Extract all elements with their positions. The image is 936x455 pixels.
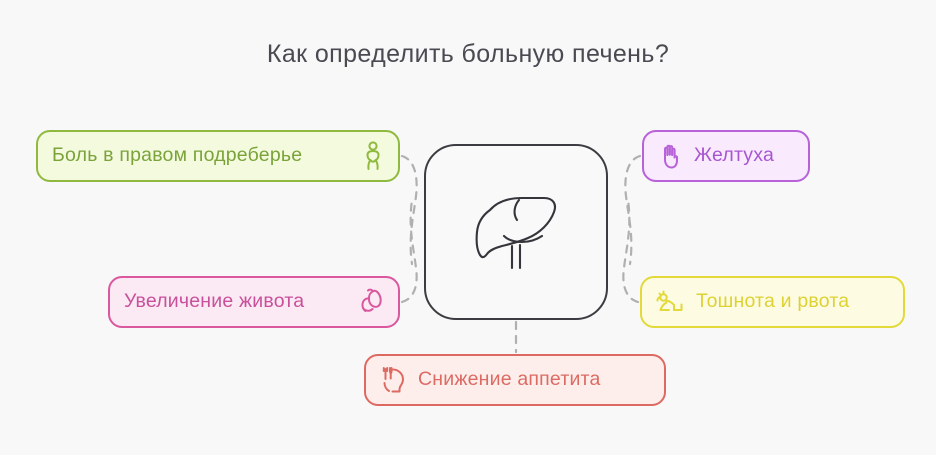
hand-palm-icon <box>658 142 684 170</box>
connector-nausea <box>623 200 638 302</box>
head-with-cutlery-icon <box>380 365 408 395</box>
symptom-label-jaundice: Желтуха <box>694 146 774 166</box>
symptom-pill-appetite[interactable]: Снижение аппетита <box>364 354 666 406</box>
page-title: Как определить больную печень? <box>0 40 936 69</box>
person-vomiting-icon <box>656 289 686 315</box>
symptom-pill-belly[interactable]: Увеличение живота <box>108 276 400 328</box>
symptom-pill-pain[interactable]: Боль в правом подреберье <box>36 130 400 182</box>
symptom-label-belly: Увеличение живота <box>124 292 304 312</box>
infographic-canvas: Как определить больную печень? Боль в пр… <box>0 0 936 455</box>
connector-jaundice <box>625 156 640 264</box>
symptom-label-nausea: Тошнота и рвота <box>696 292 849 312</box>
stomach-icon <box>356 287 384 317</box>
symptom-pill-nausea[interactable]: Тошнота и рвота <box>640 276 905 328</box>
symptom-pill-jaundice[interactable]: Желтуха <box>642 130 810 182</box>
connector-pain <box>402 156 417 264</box>
symptom-label-pain: Боль в правом подреберье <box>52 146 302 166</box>
liver-card <box>424 144 608 320</box>
symptom-label-appetite: Снижение аппетита <box>418 370 601 390</box>
person-holding-side-icon <box>362 141 384 171</box>
connector-belly <box>402 200 417 302</box>
liver-icon <box>464 184 568 280</box>
